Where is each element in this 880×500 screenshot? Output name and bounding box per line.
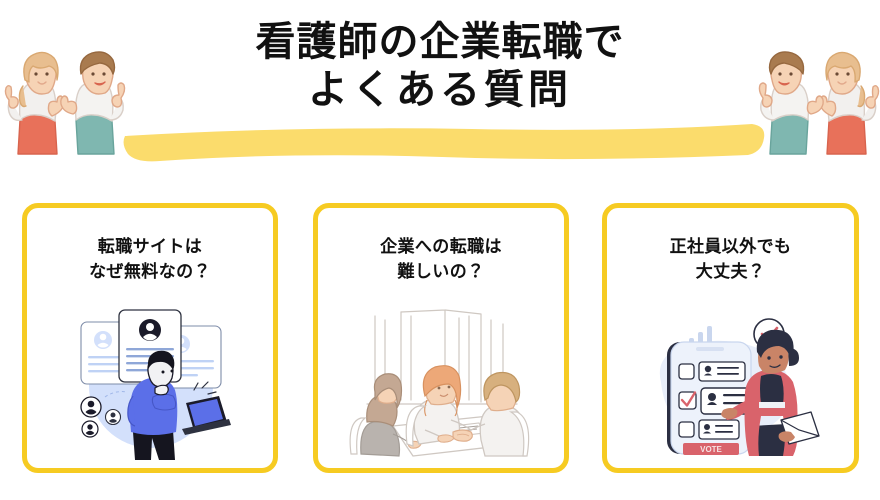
phone-vote-button-label: VOTE bbox=[700, 445, 722, 454]
man-reviewing-candidate-profiles-illustration bbox=[27, 304, 273, 469]
faq-card-2[interactable]: 企業への転職は 難しいの？ bbox=[313, 203, 569, 473]
faq-card-2-title-line-2: 難しいの？ bbox=[318, 259, 564, 284]
faq-card-3-title: 正社員以外でも 大丈夫？ bbox=[607, 234, 854, 284]
woman-with-phone-checklist-illustration: VOTE bbox=[607, 304, 854, 469]
page-title: 看護師の企業転職で よくある質問 bbox=[140, 18, 740, 114]
faq-card-1-title-line-1: 転職サイトは bbox=[27, 234, 273, 259]
faq-card-1-title-line-2: なぜ無料なの？ bbox=[27, 259, 273, 284]
faq-card-1-title: 転職サイトは なぜ無料なの？ bbox=[27, 234, 273, 284]
page-title-line-2: よくある質問 bbox=[140, 66, 740, 114]
faq-card-3-title-line-2: 大丈夫？ bbox=[607, 259, 854, 284]
faq-card-1[interactable]: 転職サイトは なぜ無料なの？ bbox=[22, 203, 278, 473]
faq-card-list: 転職サイトは なぜ無料なの？ bbox=[0, 200, 880, 485]
faq-card-2-title: 企業への転職は 難しいの？ bbox=[318, 234, 564, 284]
faq-slide: 看護師の企業転職で よくある質問 bbox=[0, 0, 880, 500]
faq-card-3-title-line-1: 正社員以外でも bbox=[607, 234, 854, 259]
faq-card-2-title-line-1: 企業への転職は bbox=[318, 234, 564, 259]
faq-card-3[interactable]: 正社員以外でも 大丈夫？ bbox=[602, 203, 859, 473]
header: 看護師の企業転職で よくある質問 bbox=[0, 0, 880, 180]
brush-highlight bbox=[112, 122, 772, 168]
page-title-line-1: 看護師の企業転職で bbox=[140, 18, 740, 66]
job-interview-meeting-illustration bbox=[318, 304, 564, 469]
